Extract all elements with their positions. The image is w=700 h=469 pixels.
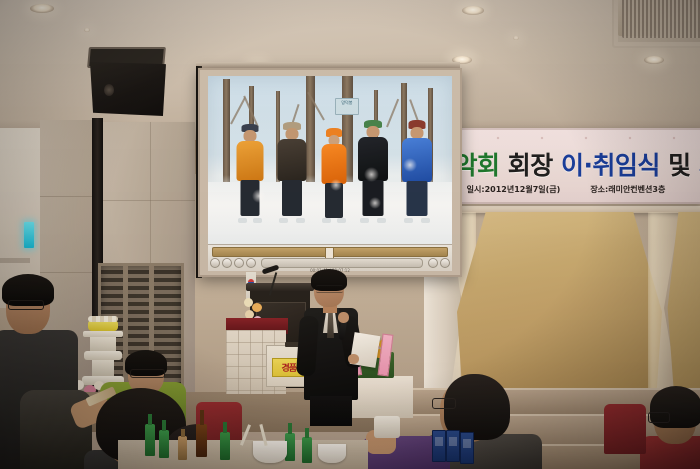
ceiling-fixture-icon [84, 28, 90, 32]
cake-decor [88, 316, 118, 322]
trail-sign-text: 망덕봉 [341, 100, 352, 105]
guest-far-right [648, 388, 700, 469]
eyeglasses-icon [8, 300, 44, 310]
wall-shelf [0, 258, 30, 263]
serving-bowl [318, 444, 346, 463]
progress-track[interactable] [261, 258, 423, 268]
volume-button[interactable] [428, 258, 438, 268]
speaker-driver-icon [104, 84, 114, 96]
hiker-boot [337, 218, 346, 223]
lens-flare [252, 189, 266, 203]
pier-joint [40, 272, 92, 273]
bottle-neck [148, 414, 152, 425]
blue-gift-box[interactable] [446, 430, 460, 462]
cake-pillar [90, 337, 116, 351]
exit-light-icon [24, 222, 34, 248]
hiker-2-brown [276, 122, 308, 220]
conference-hall-photo: 산악회 회장 이·취임식 및 제6주년 일시:2012년12월7일(금) 장소:… [0, 0, 700, 469]
soju-bottle[interactable] [159, 430, 169, 458]
napkin [374, 416, 400, 438]
hiker-boot [360, 218, 369, 223]
hiker-3-orange [320, 128, 348, 220]
branch [230, 97, 246, 124]
banner-subline: 일시:2012년12월7일(금) 장소:래미안컨벤션3층 [432, 184, 700, 195]
presenter-at-podium [300, 272, 362, 422]
pier-joint [103, 200, 195, 201]
banner-seg-and: 및 [660, 151, 699, 180]
blue-gift-box[interactable] [432, 430, 446, 462]
eyeglasses-icon [130, 369, 165, 378]
tree-trunk [223, 79, 230, 185]
stop-button[interactable] [246, 258, 256, 268]
hand-holding-paper [348, 354, 359, 364]
hiker-boot [296, 218, 305, 223]
seek-bar[interactable] [212, 247, 448, 257]
projection-screen: 망덕봉 [198, 68, 462, 277]
lens-flare [330, 179, 342, 191]
suit-trousers [310, 396, 352, 426]
hiker-pants [406, 181, 427, 216]
hand-holding-microphone [338, 312, 349, 323]
bottle-neck [181, 429, 185, 437]
banner-pin-dots [432, 136, 700, 140]
soju-bottle[interactable] [302, 437, 312, 463]
trail-marker-sign: 망덕봉 [335, 98, 359, 115]
flower [252, 303, 262, 312]
vent-grill [622, 0, 700, 38]
condiment-bottle[interactable] [178, 436, 187, 460]
hiker-boot [377, 218, 386, 223]
banner-date: 일시:2012년12월7일(금) [467, 184, 561, 195]
downlight-icon [644, 56, 664, 64]
hiker-jacket [322, 144, 347, 184]
banner-seg-president: 회장 [500, 151, 561, 180]
banner-seg-inauguration: 이·취임식 [561, 151, 660, 180]
ceiling-speaker-icon [90, 62, 166, 116]
soju-bottle[interactable] [145, 424, 155, 456]
bottle-neck [200, 410, 204, 425]
eyeglasses-icon [648, 412, 670, 423]
downlight-icon [462, 6, 484, 15]
fullscreen-button[interactable] [440, 258, 450, 268]
eyeglasses-icon [432, 398, 456, 409]
banner-headline: 산악회 회장 이·취임식 및 제6주년 [432, 146, 700, 182]
media-player-toolbar[interactable]: 00:03:41 / 00:07:12 [208, 244, 452, 271]
hiker-1-orange [235, 124, 265, 220]
bottle-neck [288, 423, 292, 434]
hiker-pants [282, 180, 302, 216]
hiker-boot [238, 218, 247, 223]
hiker-jacket [236, 141, 263, 181]
pause-button[interactable] [234, 258, 244, 268]
hiker-jacket [278, 139, 307, 181]
bottle-neck [162, 420, 166, 431]
hiker-boot [253, 218, 262, 223]
ceiling-fixture-icon [513, 36, 519, 40]
banquet-chair[interactable] [604, 404, 646, 454]
lens-flare [403, 158, 417, 172]
ceiling-air-conditioner-vent [612, 0, 700, 48]
hiker-boot [279, 218, 288, 223]
bottle-neck [305, 428, 309, 438]
soju-bottle[interactable] [220, 432, 230, 460]
wall-moulding [440, 206, 700, 213]
serving-bowl [253, 441, 287, 463]
event-banner: 산악회 회장 이·취임식 및 제6주년 일시:2012년12월7일(금) 장소:… [432, 128, 700, 204]
play-button[interactable] [222, 258, 232, 268]
beer-bottle[interactable] [196, 424, 207, 457]
projected-slide-image: 망덕봉 [208, 76, 452, 247]
downlight-icon [30, 4, 54, 13]
banner-venue: 장소:래미안컨벤션3층 [590, 184, 665, 195]
bottle-neck [223, 422, 227, 433]
hiker-boot [322, 218, 331, 223]
eyeglasses-icon [316, 285, 343, 293]
previous-button[interactable] [210, 258, 220, 268]
blue-gift-box[interactable] [460, 432, 474, 464]
pier-joint [40, 196, 92, 197]
hiker-boot [421, 218, 430, 223]
hiker-boot [404, 218, 413, 223]
